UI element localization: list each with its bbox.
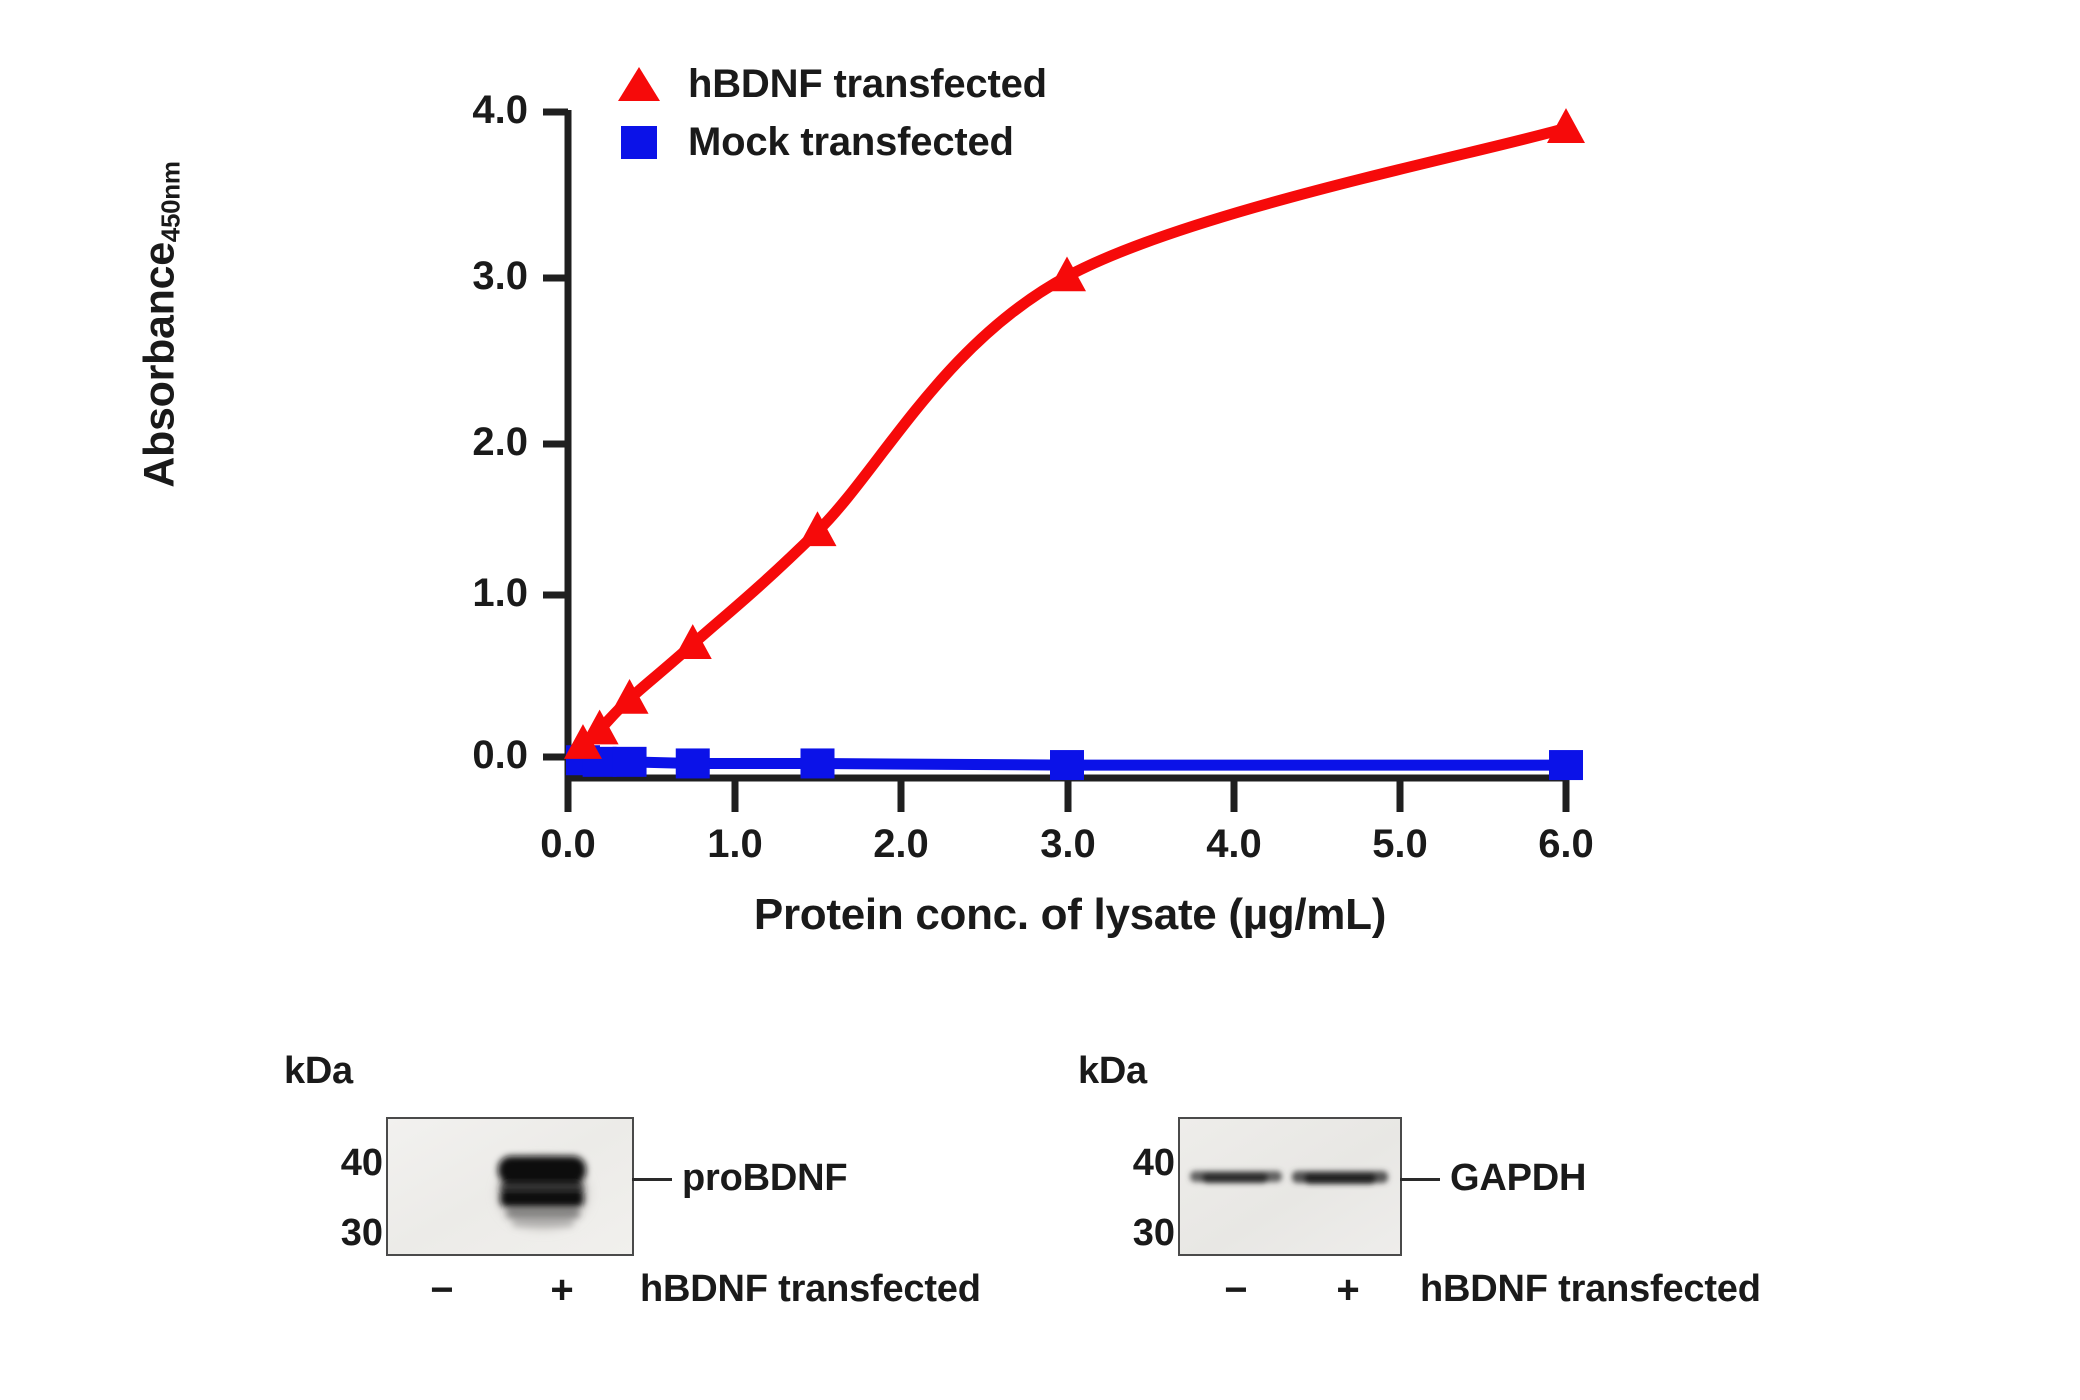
x-tick-label-1: 1.0 — [675, 822, 795, 867]
probdnf-leader-line — [632, 1178, 672, 1181]
square-marker-icon — [612, 126, 666, 159]
probdnf-lane-plus: + — [532, 1268, 592, 1313]
x-tick-label-4: 4.0 — [1174, 822, 1294, 867]
legend-item-hbdnf: hBDNF transfected — [612, 58, 1047, 110]
probdnf-target-label: proBDNF — [682, 1157, 847, 1200]
mock-point-2 — [613, 747, 647, 777]
legend-item-mock: Mock transfected — [612, 116, 1047, 168]
chart-legend: hBDNF transfected Mock transfected — [612, 58, 1047, 174]
y-tick-label-0: 0.0 — [418, 733, 528, 778]
probdnf-lane-minus: − — [412, 1268, 472, 1313]
x-tick-label-0: 0.0 — [508, 822, 628, 867]
probdnf-mw-40: 40 — [313, 1142, 383, 1185]
y-axis-title: Absorbance450nm — [136, 45, 185, 605]
y-tick-label-2: 2.0 — [418, 420, 528, 465]
elisa-chart: Absorbance450nm Protein conc. of lysate … — [0, 0, 2080, 980]
y-axis-title-main: Absorbance — [136, 242, 184, 488]
probdnf-blot-image — [386, 1117, 634, 1256]
x-tick-label-2: 2.0 — [841, 822, 961, 867]
gapdh-mw-40: 40 — [1105, 1142, 1175, 1185]
y-tick-label-1: 1.0 — [418, 571, 528, 616]
probdnf-mw-30: 30 — [313, 1212, 383, 1255]
probdnf-condition-label: hBDNF transfected — [640, 1268, 981, 1311]
mock-point-6 — [1549, 750, 1583, 780]
hbdnf-series-markers — [564, 108, 1585, 759]
x-tick-label-5: 5.0 — [1340, 822, 1460, 867]
mock-point-5 — [1050, 750, 1084, 780]
gapdh-mw-30: 30 — [1105, 1212, 1175, 1255]
gapdh-target-label: GAPDH — [1450, 1157, 1586, 1200]
mock-point-3 — [676, 748, 710, 778]
gapdh-leader-line — [1400, 1178, 1440, 1181]
probdnf-kda-header: kDa — [284, 1050, 353, 1093]
gapdh-lane-minus: − — [1206, 1268, 1266, 1313]
hbdnf-point-6 — [1547, 108, 1585, 143]
x-axis-title: Protein conc. of lysate (µg/mL) — [560, 890, 1580, 940]
y-tick-label-3: 3.0 — [418, 254, 528, 299]
gapdh-lane-plus: + — [1318, 1268, 1378, 1313]
triangle-marker-icon — [612, 67, 666, 101]
y-tick-label-4: 4.0 — [418, 88, 528, 133]
legend-label-mock: Mock transfected — [688, 120, 1014, 165]
legend-label-hbdnf: hBDNF transfected — [688, 62, 1047, 107]
figure-root: Absorbance450nm Protein conc. of lysate … — [0, 0, 2080, 1400]
hbdnf-series-line — [583, 128, 1566, 744]
gapdh-blot-image — [1178, 1117, 1402, 1256]
mock-point-4 — [801, 748, 835, 778]
gapdh-kda-header: kDa — [1078, 1050, 1147, 1093]
gapdh-condition-label: hBDNF transfected — [1420, 1268, 1761, 1311]
x-tick-label-3: 3.0 — [1008, 822, 1128, 867]
y-axis-title-sub: 450nm — [156, 161, 186, 242]
x-tick-label-6: 6.0 — [1506, 822, 1626, 867]
